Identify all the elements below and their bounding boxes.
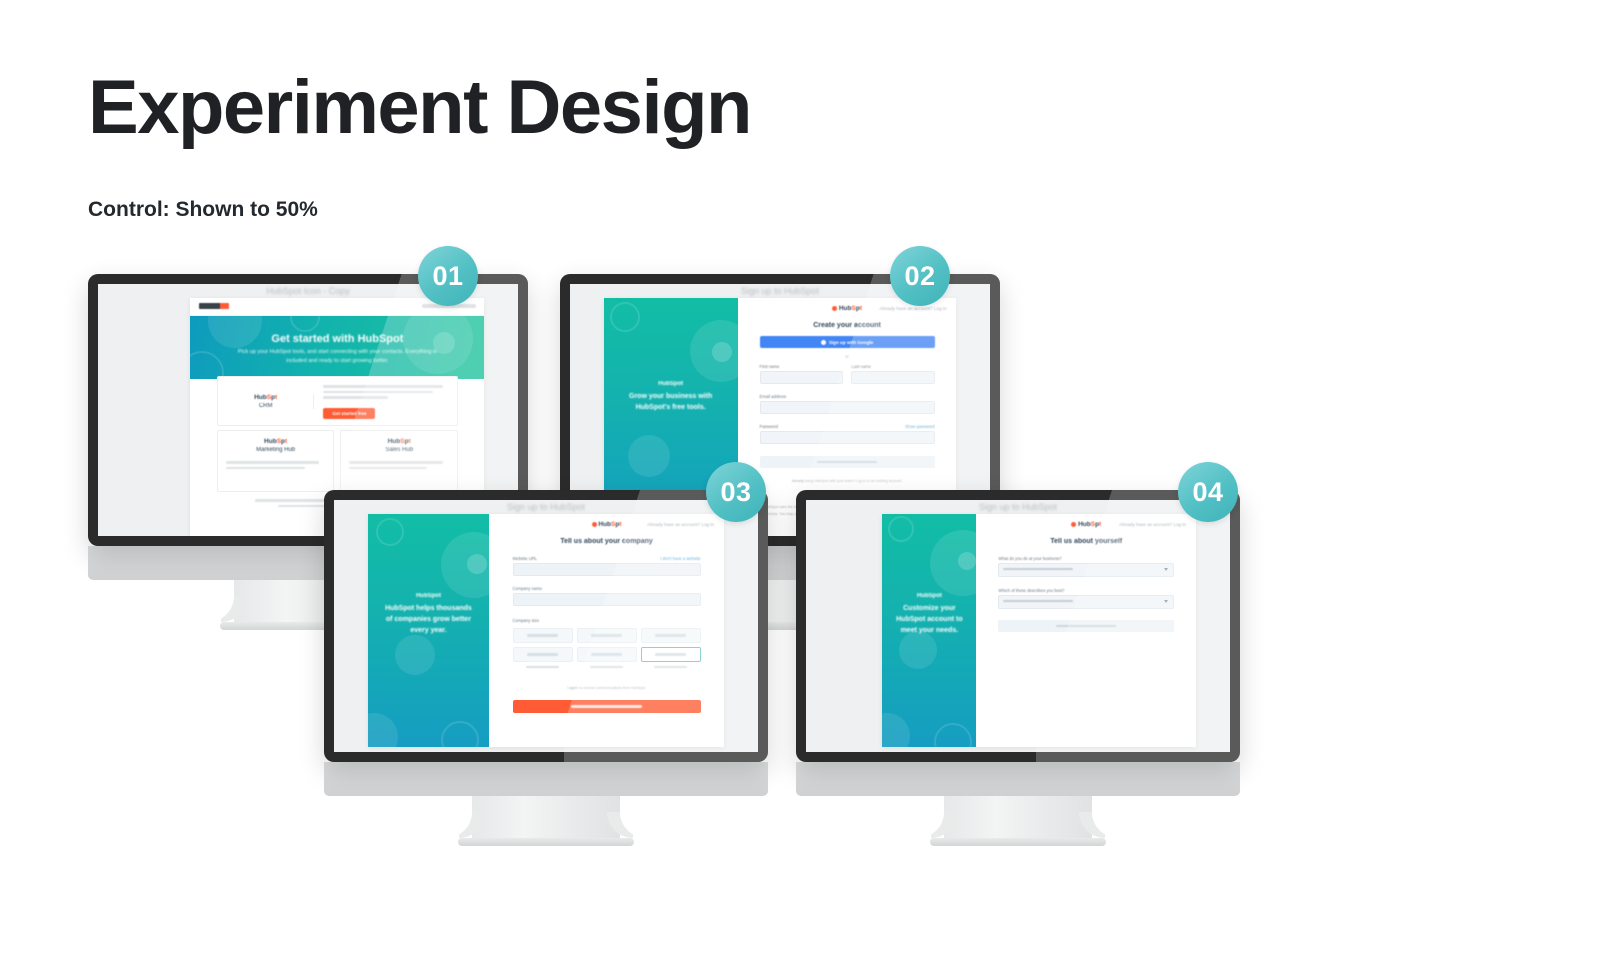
password-input[interactable] <box>760 431 935 444</box>
monitor-04-chin <box>796 762 1240 796</box>
google-icon <box>821 340 826 345</box>
onboarding-page-03: HubSpot HubSpot helps thousands of compa… <box>368 514 724 747</box>
promo-copy: HubSpot Customize your HubSpot account t… <box>894 593 966 637</box>
role-select-field[interactable]: What do you do at your business? <box>998 556 1174 577</box>
onboarding-split-layout: HubSpot HubSpot helps thousands of compa… <box>368 514 724 747</box>
monitor-04-foot <box>930 838 1106 846</box>
step-badge-04: 04 <box>1178 462 1238 522</box>
onboarding-split-layout: HubSpot Customize your HubSpot account t… <box>882 514 1196 747</box>
website-url-field[interactable]: Website URL I don't have a website <box>513 556 701 576</box>
last-name-field[interactable]: Last name <box>851 364 934 384</box>
helper-text: Already using HubSpot with your team? Lo… <box>764 478 930 485</box>
hubspot-wordmark: HubSpt <box>1071 521 1101 528</box>
crm-card[interactable]: HubSpt CRM Get started free <box>217 376 458 426</box>
next-button[interactable] <box>998 620 1174 632</box>
show-password-link[interactable]: Show password <box>905 424 935 429</box>
monitor-03: Sign up to HubSpot HubSpot Hu <box>324 490 768 846</box>
form-title: Create your account <box>738 322 957 329</box>
first-name-input[interactable] <box>760 371 843 384</box>
field-label: What do you do at your business? <box>998 556 1174 561</box>
promo-panel: HubSpot HubSpot helps thousands of compa… <box>368 514 489 747</box>
monitor-03-chin <box>324 762 768 796</box>
monitor-04: Sign up to HubSpot HubSpot Cu <box>796 490 1240 846</box>
step-badge-03: 03 <box>706 462 766 522</box>
company-size-tiles[interactable] <box>513 628 701 662</box>
hubspot-wordmark: HubSpt <box>218 438 334 445</box>
create-account-button[interactable] <box>513 700 701 713</box>
company-size-tile[interactable] <box>513 647 573 662</box>
promo-headline: Customize your HubSpot account to meet y… <box>894 604 966 637</box>
page-subtitle: Control: Shown to 50% <box>88 198 318 222</box>
hubspot-sprocket-icon <box>1071 522 1076 527</box>
crm-cta-button[interactable]: Get started free <box>323 408 375 419</box>
product-cards: HubSpt Marketing Hub HubSpt Sales Hub <box>217 430 458 492</box>
field-label: Company name <box>513 586 701 591</box>
consent-checkbox-note[interactable]: I agree to receive communications from H… <box>527 686 687 690</box>
first-name-field[interactable]: First name <box>760 364 843 384</box>
crm-card-brand: HubSpt CRM <box>218 394 315 409</box>
form-title: Tell us about your company <box>489 538 724 545</box>
hubspot-sprocket-icon <box>832 306 837 311</box>
company-size-tiles-row3[interactable] <box>513 662 701 672</box>
google-signup-button[interactable]: Sign up with Google <box>760 336 935 348</box>
slide-canvas: Experiment Design Control: Shown to 50% … <box>0 0 1600 961</box>
onboarding-form-panel: HubSpt Already have an account? Log in T… <box>976 514 1196 747</box>
hubspot-logo-icon <box>199 303 229 309</box>
hubspot-sprocket-icon <box>592 522 597 527</box>
company-size-tile[interactable] <box>641 628 701 643</box>
product-name: Sales Hub <box>341 447 457 453</box>
promo-headline: HubSpot helps thousands of companies gro… <box>382 604 474 637</box>
hubspot-wordmark: HubSpt <box>341 438 457 445</box>
last-name-input[interactable] <box>851 371 934 384</box>
describes-you-select-field[interactable]: Which of these describes you best? <box>998 588 1174 609</box>
promo-copy: HubSpot HubSpot helps thousands of compa… <box>382 593 474 637</box>
divider-or: or <box>738 354 957 359</box>
crm-product-name: CRM <box>218 403 314 409</box>
submit-button[interactable] <box>760 456 935 468</box>
google-signup-label: Sign up with Google <box>829 340 873 345</box>
field-label: Company size <box>513 618 701 623</box>
hubspot-wordmark: HubSpt <box>832 305 862 312</box>
password-field[interactable]: Password Show password <box>760 424 935 444</box>
website-url-input[interactable] <box>513 563 701 576</box>
onboarding-form-panel: HubSpt Already have an account? Log in T… <box>489 514 724 747</box>
monitor-04-screen: Sign up to HubSpot HubSpot Cu <box>806 500 1230 752</box>
company-size-tile[interactable] <box>577 628 637 643</box>
submit-label-placeholder <box>817 461 877 464</box>
field-label: Which of these describes you best? <box>998 588 1174 593</box>
monitor-03-screen: Sign up to HubSpot HubSpot Hu <box>334 500 758 752</box>
onboarding-page-04: HubSpot Customize your HubSpot account t… <box>882 514 1196 747</box>
describes-you-select[interactable] <box>998 595 1174 609</box>
company-size-tile[interactable] <box>641 662 701 672</box>
step-badge-02: 02 <box>890 246 950 306</box>
no-website-link[interactable]: I don't have a website <box>660 556 700 561</box>
hero-subtitle: Pick up your HubSpot tools, and start co… <box>232 348 444 367</box>
promo-logo: HubSpot <box>382 593 474 599</box>
form-title: Tell us about yourself <box>976 538 1196 545</box>
crm-card-body: Get started free <box>314 382 456 420</box>
company-size-tile-selected[interactable] <box>641 647 701 662</box>
promo-panel: HubSpot Customize your HubSpot account t… <box>882 514 976 747</box>
field-label: Password Show password <box>760 424 935 429</box>
company-size-tile[interactable] <box>513 628 573 643</box>
monitor-03-neck <box>472 796 620 838</box>
promo-headline: Grow your business with HubSpot's free t… <box>620 392 722 414</box>
monitor-04-neck <box>944 796 1092 838</box>
email-field[interactable]: Email address <box>760 394 935 414</box>
login-link[interactable]: Already have an account? Log in <box>1119 522 1186 527</box>
promo-logo: HubSpot <box>620 381 722 387</box>
promo-logo: HubSpot <box>894 593 966 599</box>
step-badge-01: 01 <box>418 246 478 306</box>
field-label: Last name <box>851 364 934 369</box>
field-label: First name <box>760 364 843 369</box>
page-title: Experiment Design <box>88 68 751 148</box>
login-link[interactable]: Already have an account? Log in <box>647 522 714 527</box>
company-name-field[interactable]: Company name <box>513 586 701 606</box>
company-size-group: Company size <box>513 618 701 625</box>
hero-banner: Get started with HubSpot Pick up your Hu… <box>190 316 484 379</box>
company-name-input[interactable] <box>513 593 701 606</box>
company-size-tile[interactable] <box>577 662 637 672</box>
field-label: Website URL I don't have a website <box>513 556 701 561</box>
login-link[interactable]: Already have an account? Log in <box>879 306 946 311</box>
promo-copy: HubSpot Grow your business with HubSpot'… <box>620 381 722 414</box>
role-select[interactable] <box>998 563 1174 577</box>
company-size-tile[interactable] <box>577 647 637 662</box>
product-name: Marketing Hub <box>218 447 334 453</box>
hubspot-wordmark: HubSpt <box>218 394 314 401</box>
hero-title: Get started with HubSpot <box>190 333 484 345</box>
email-input[interactable] <box>760 401 935 414</box>
monitor-03-foot <box>458 838 634 846</box>
company-size-tile[interactable] <box>513 662 573 672</box>
field-label: Email address <box>760 394 935 399</box>
hubspot-wordmark: HubSpt <box>592 521 622 528</box>
product-card-marketing[interactable]: HubSpt Marketing Hub <box>217 430 335 492</box>
product-card-sales[interactable]: HubSpt Sales Hub <box>340 430 458 492</box>
